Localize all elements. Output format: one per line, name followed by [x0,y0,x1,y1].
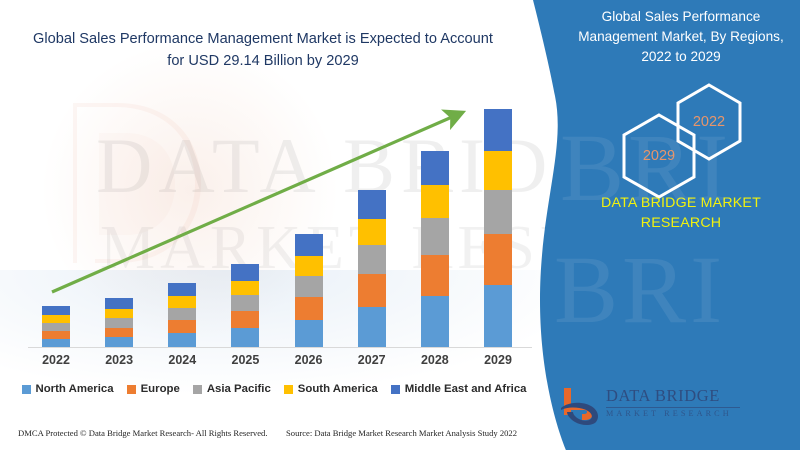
bar-2023 [105,298,133,347]
bar-segment-2023-south-america [105,309,133,318]
bar-segment-2026-north-america [295,320,323,347]
legend-item-asia-pacific[interactable]: Asia Pacific [193,383,271,395]
footer-source: Source: Data Bridge Market Research Mark… [286,428,517,438]
legend-label: Europe [141,383,180,395]
bar-segment-2029-europe [484,234,512,285]
bar-segment-2025-middle-east-and-africa [231,264,259,281]
logo-subtitle: MARKET RESEARCH [606,410,746,418]
legend-label: Asia Pacific [207,383,271,395]
growth-arrow-icon [20,95,540,348]
bar-segment-2024-europe [168,320,196,333]
legend-swatch-icon [391,385,400,394]
footer: DMCA Protected © Data Bridge Market Rese… [0,428,560,448]
bar-segment-2023-middle-east-and-africa [105,298,133,309]
legend-item-south-america[interactable]: South America [284,383,378,395]
x-label-2023: 2023 [91,353,147,367]
bar-segment-2022-south-america [42,315,70,323]
chart-legend: North AmericaEuropeAsia PacificSouth Ame… [0,383,548,395]
legend-swatch-icon [193,385,202,394]
infographic-slide: DATA BRIDGE MARKET RESEARCH Global Sales… [0,0,800,450]
bar-2025 [231,264,259,347]
bar-segment-2024-asia-pacific [168,308,196,320]
bar-segment-2028-asia-pacific [421,218,449,254]
logo-title: DATA BRIDGE [606,388,746,405]
panel-brand-text: DATA BRIDGE MARKET RESEARCH [570,193,792,233]
legend-item-europe[interactable]: Europe [127,383,180,395]
legend-label: Middle East and Africa [405,383,527,395]
legend-swatch-icon [127,385,136,394]
legend-swatch-icon [284,385,293,394]
bar-2029 [484,109,512,347]
bar-segment-2024-north-america [168,333,196,347]
bar-segment-2025-south-america [231,281,259,295]
bar-segment-2022-asia-pacific [42,323,70,331]
bar-segment-2025-europe [231,311,259,328]
data-bridge-logo-mark-icon [558,384,602,426]
bar-segment-2024-middle-east-and-africa [168,283,196,297]
logo-divider [606,407,740,408]
x-axis-line [28,347,532,348]
left-content-pane: Global Sales Performance Management Mark… [0,0,560,450]
legend-item-north-america[interactable]: North America [22,383,114,395]
hexagon-2029: 2029 [620,112,698,200]
bar-segment-2028-south-america [421,185,449,218]
hexagon-2029-label: 2029 [643,148,675,164]
panel-watermark-2: BRI [554,230,794,350]
bar-segment-2024-south-america [168,296,196,308]
bar-segment-2027-asia-pacific [358,245,386,274]
stacked-bar-chart: 20222023202420252026202720282029 [20,95,540,355]
logo-text-block: DATA BRIDGE MARKET RESEARCH [606,388,746,418]
hexagon-2022-label: 2022 [693,114,725,130]
bar-segment-2029-south-america [484,151,512,191]
bar-segment-2027-middle-east-and-africa [358,190,386,219]
x-axis-labels: 20222023202420252026202720282029 [20,353,540,373]
bar-segment-2026-south-america [295,256,323,275]
bar-segment-2022-europe [42,331,70,339]
bar-segment-2026-middle-east-and-africa [295,234,323,256]
x-label-2024: 2024 [154,353,210,367]
panel-title: Global Sales Performance Management Mark… [568,7,794,67]
legend-item-middle-east-and-africa[interactable]: Middle East and Africa [391,383,527,395]
bar-2028 [421,151,449,347]
x-label-2026: 2026 [281,353,337,367]
bar-segment-2029-middle-east-and-africa [484,109,512,151]
legend-swatch-icon [22,385,31,394]
legend-label: South America [298,383,378,395]
bar-segment-2028-europe [421,255,449,297]
bar-segment-2023-europe [105,328,133,337]
bar-2022 [42,306,70,347]
bar-segment-2027-south-america [358,219,386,245]
bar-segment-2025-north-america [231,328,259,347]
footer-copyright: DMCA Protected © Data Bridge Market Rese… [18,428,268,438]
bar-segment-2022-north-america [42,339,70,347]
chart-plot-area [20,95,540,348]
bar-2026 [295,234,323,347]
bar-segment-2022-middle-east-and-africa [42,306,70,315]
x-label-2022: 2022 [28,353,84,367]
bar-segment-2027-north-america [358,307,386,347]
bar-segment-2023-north-america [105,337,133,347]
bar-segment-2023-asia-pacific [105,318,133,327]
bar-2027 [358,190,386,347]
bar-segment-2029-asia-pacific [484,190,512,234]
bar-segment-2028-middle-east-and-africa [421,151,449,186]
x-label-2025: 2025 [217,353,273,367]
data-bridge-logo: DATA BRIDGE MARKET RESEARCH [558,382,748,428]
x-label-2029: 2029 [470,353,526,367]
legend-label: North America [36,383,114,395]
bar-segment-2026-asia-pacific [295,276,323,297]
hexagon-group: 2022 2029 [612,82,782,194]
bar-segment-2027-europe [358,274,386,307]
x-label-2027: 2027 [344,353,400,367]
bar-segment-2029-north-america [484,285,512,347]
bar-segment-2026-europe [295,297,323,320]
bar-segment-2028-north-america [421,296,449,347]
headline-text: Global Sales Performance Management Mark… [28,28,498,72]
x-label-2028: 2028 [407,353,463,367]
bar-2024 [168,283,196,347]
bar-segment-2025-asia-pacific [231,295,259,310]
